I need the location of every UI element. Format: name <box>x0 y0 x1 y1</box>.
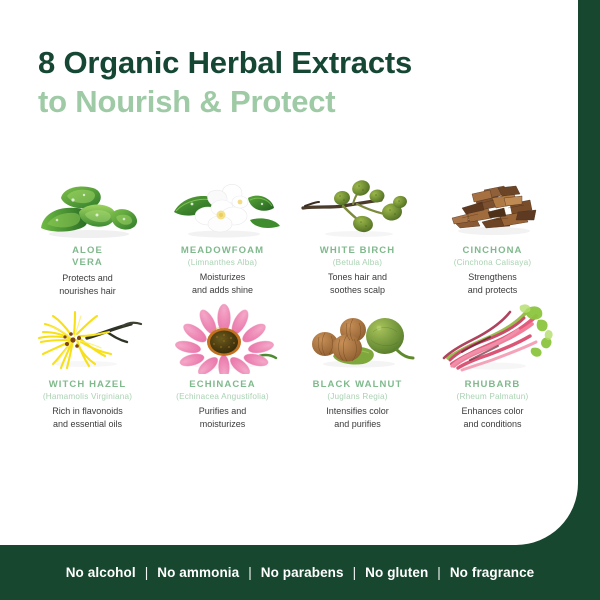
desc-line-1: Rich in flavonoids <box>52 405 123 418</box>
ingredient-card-echinacea: ECHINACEA (Echinacea Angustifolia) Purif… <box>155 302 290 430</box>
ingredient-card-cinchona: CINCHONA (Cinchona Calisaya) Strengthens… <box>425 168 560 297</box>
ingredient-description: Rich in flavonoids and essential oils <box>52 405 123 430</box>
ingredient-latin-name: (Echinacea Angustifolia) <box>176 391 269 402</box>
ingredient-name: RHUBARB <box>465 379 521 391</box>
cinchona-bark-icon <box>432 168 554 240</box>
ingredient-name: ECHINACEA <box>189 379 255 391</box>
claim-separator: | <box>437 565 441 580</box>
desc-line-1: Purifies and <box>199 405 247 418</box>
aloe-vera-leaves-icon <box>27 168 149 240</box>
claim-separator: | <box>145 565 149 580</box>
ingredient-name: CINCHONA <box>463 245 523 257</box>
desc-line-2: moisturizes <box>199 418 247 431</box>
title-line-2: to Nourish & Protect <box>38 83 558 120</box>
echinacea-flower-icon <box>162 302 284 374</box>
desc-line-2: soothes scalp <box>328 284 387 297</box>
ingredient-latin-name: (Limnanthes Alba) <box>188 257 257 268</box>
ingredient-description: Moisturizes and adds shine <box>192 271 253 296</box>
black-walnut-icon <box>297 302 419 374</box>
claim-no-alcohol: No alcohol <box>66 565 136 580</box>
ingredient-description: Intensifies color and purifies <box>326 405 389 430</box>
ingredient-grid: ALOE VERA Protects and nourishes hair <box>20 168 560 430</box>
ingredient-card-white-birch: WHITE BIRCH (Betula Alba) Tones hair and… <box>290 168 425 297</box>
ingredient-card-rhubarb: RHUBARB (Rheum Palmatun) Enhances color … <box>425 302 560 430</box>
ingredient-card-meadowfoam: MEADOWFOAM (Limnanthes Alba) Moisturizes… <box>155 168 290 297</box>
claim-no-fragrance: No fragrance <box>450 565 534 580</box>
ingredient-description: Strengthens and protects <box>468 271 518 296</box>
desc-line-2: and essential oils <box>52 418 123 431</box>
ingredient-latin-name: (Betula Alba) <box>333 257 382 268</box>
ingredient-row: WITCH HAZEL (Hamamolis Virginiana) Rich … <box>20 302 560 430</box>
ingredient-latin-name: (Hamamolis Virginiana) <box>43 391 132 402</box>
desc-line-1: Moisturizes <box>192 271 253 284</box>
desc-line-1: Protects and <box>59 272 116 285</box>
ingredient-name: BLACK WALNUT <box>313 379 403 391</box>
ingredient-card-witch-hazel: WITCH HAZEL (Hamamolis Virginiana) Rich … <box>20 302 155 430</box>
ingredient-name: MEADOWFOAM <box>181 245 264 257</box>
ingredient-card-aloe-vera: ALOE VERA Protects and nourishes hair <box>20 168 155 297</box>
ingredient-latin-name: (Rheum Palmatun) <box>457 391 529 402</box>
ingredient-latin-name: (Juglans Regia) <box>327 391 387 402</box>
claim-no-ammonia: No ammonia <box>157 565 239 580</box>
desc-line-2: and adds shine <box>192 284 253 297</box>
desc-line-2: and conditions <box>461 418 523 431</box>
ingredient-description: Enhances color and conditions <box>461 405 523 430</box>
ingredient-row: ALOE VERA Protects and nourishes hair <box>20 168 560 297</box>
ingredient-name: WHITE BIRCH <box>320 245 395 257</box>
desc-line-2: and protects <box>468 284 518 297</box>
infographic-poster: 8 Organic Herbal Extracts to Nourish & P… <box>0 0 600 600</box>
witch-hazel-flower-icon <box>27 302 149 374</box>
ingredient-latin-name: (Cinchona Calisaya) <box>454 257 532 268</box>
ingredient-card-black-walnut: BLACK WALNUT (Juglans Regia) Intensifies… <box>290 302 425 430</box>
desc-line-1: Strengthens <box>468 271 518 284</box>
desc-line-1: Enhances color <box>461 405 523 418</box>
ingredient-name: WITCH HAZEL <box>49 379 127 391</box>
claim-separator: | <box>248 565 252 580</box>
footer-claims-bar: No alcohol | No ammonia | No parabens | … <box>0 545 600 600</box>
title-line-1: 8 Organic Herbal Extracts <box>38 44 558 81</box>
rhubarb-stalks-icon <box>432 302 554 374</box>
desc-line-1: Intensifies color <box>326 405 389 418</box>
claim-no-gluten: No gluten <box>365 565 428 580</box>
meadowfoam-flower-icon <box>162 168 284 240</box>
ingredient-description: Protects and nourishes hair <box>59 272 116 297</box>
desc-line-1: Tones hair and <box>328 271 387 284</box>
desc-line-2: nourishes hair <box>59 285 116 298</box>
white-birch-branch-icon <box>297 168 419 240</box>
ingredient-name-line-2: VERA <box>72 257 103 268</box>
claim-separator: | <box>353 565 357 580</box>
claims-list: No alcohol | No ammonia | No parabens | … <box>66 565 535 580</box>
ingredient-description: Purifies and moisturizes <box>199 405 247 430</box>
ingredient-name-line-1: ALOE <box>72 245 103 256</box>
page-title: 8 Organic Herbal Extracts to Nourish & P… <box>38 44 558 120</box>
ingredient-name: ALOE VERA <box>72 245 103 269</box>
ingredient-description: Tones hair and soothes scalp <box>328 271 387 296</box>
desc-line-2: and purifies <box>326 418 389 431</box>
claim-no-parabens: No parabens <box>261 565 344 580</box>
